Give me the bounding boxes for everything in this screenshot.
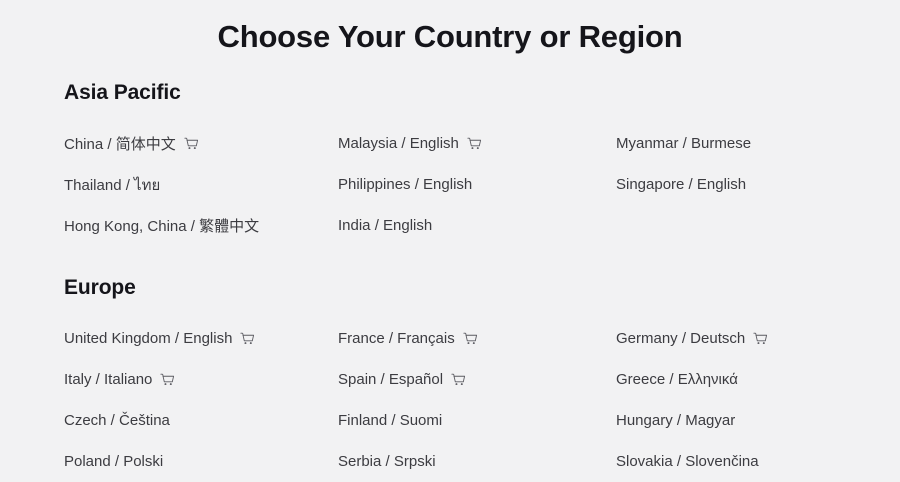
- region-link[interactable]: Greece / Ελληνικά: [616, 371, 738, 388]
- region-link-label: Singapore / English: [616, 176, 746, 193]
- region-link-label: Czech / Čeština: [64, 412, 170, 429]
- region-link-label: Hungary / Magyar: [616, 412, 735, 429]
- region-link-label: Spain / Español: [338, 371, 443, 388]
- region-link[interactable]: Philippines / English: [338, 176, 472, 193]
- region-cell: China / 简体中文: [64, 123, 338, 164]
- region-cell: Germany / Deutsch: [616, 318, 880, 359]
- region-link[interactable]: Serbia / Srpski: [338, 453, 436, 470]
- shopping-cart-icon[interactable]: [183, 136, 200, 153]
- region-link-label: Greece / Ελληνικά: [616, 371, 738, 388]
- region-link[interactable]: Hong Kong, China / 繁體中文: [64, 215, 259, 236]
- page-title: Choose Your Country or Region: [0, 0, 900, 55]
- region-link[interactable]: Hungary / Magyar: [616, 412, 735, 429]
- region-cell: Myanmar / Burmese: [616, 123, 880, 164]
- region-link[interactable]: Slovakia / Slovenčina: [616, 453, 759, 470]
- region-cell: Italy / Italiano: [64, 359, 338, 400]
- region-link[interactable]: United Kingdom / English: [64, 330, 256, 347]
- region-link-label: Slovakia / Slovenčina: [616, 453, 759, 470]
- region-cell: Poland / Polski: [64, 441, 338, 482]
- region-link-label: Finland / Suomi: [338, 412, 442, 429]
- region-link[interactable]: Italy / Italiano: [64, 371, 176, 388]
- region-cell: Finland / Suomi: [338, 400, 616, 441]
- region-link[interactable]: Malaysia / English: [338, 135, 483, 152]
- region-link-label: Italy / Italiano: [64, 371, 152, 388]
- section-europe: Europe United Kingdom / EnglishFrance / …: [0, 276, 900, 482]
- region-link-label: Myanmar / Burmese: [616, 135, 751, 152]
- region-link[interactable]: Spain / Español: [338, 371, 467, 388]
- region-cell: Spain / Español: [338, 359, 616, 400]
- region-cell: India / English: [338, 205, 616, 246]
- region-cell: Hungary / Magyar: [616, 400, 880, 441]
- region-grid-asia-pacific: China / 简体中文Malaysia / EnglishMyanmar / …: [64, 123, 880, 246]
- region-link-label: Serbia / Srpski: [338, 453, 436, 470]
- region-link-label: United Kingdom / English: [64, 330, 232, 347]
- region-link-label: Germany / Deutsch: [616, 330, 745, 347]
- section-heading-europe: Europe: [64, 276, 880, 300]
- region-link-label: Malaysia / English: [338, 135, 459, 152]
- region-cell: Slovakia / Slovenčina: [616, 441, 880, 482]
- region-link[interactable]: Poland / Polski: [64, 453, 163, 470]
- region-cell: United Kingdom / English: [64, 318, 338, 359]
- region-link[interactable]: France / Français: [338, 330, 479, 347]
- region-grid-europe: United Kingdom / EnglishFrance / Françai…: [64, 318, 880, 482]
- shopping-cart-icon[interactable]: [450, 372, 467, 389]
- shopping-cart-icon[interactable]: [239, 331, 256, 348]
- country-region-selector-page: Choose Your Country or Region Asia Pacif…: [0, 0, 900, 475]
- shopping-cart-icon[interactable]: [752, 331, 769, 348]
- region-link[interactable]: India / English: [338, 217, 432, 234]
- region-cell: Greece / Ελληνικά: [616, 359, 880, 400]
- region-cell: France / Français: [338, 318, 616, 359]
- shopping-cart-icon[interactable]: [462, 331, 479, 348]
- region-link[interactable]: Singapore / English: [616, 176, 746, 193]
- shopping-cart-icon[interactable]: [159, 372, 176, 389]
- region-cell: Singapore / English: [616, 164, 880, 205]
- section-asia-pacific: Asia Pacific China / 简体中文Malaysia / Engl…: [0, 81, 900, 246]
- region-cell: Serbia / Srpski: [338, 441, 616, 482]
- region-cell-empty: [616, 205, 880, 246]
- region-cell: Hong Kong, China / 繁體中文: [64, 205, 338, 246]
- region-cell: Philippines / English: [338, 164, 616, 205]
- region-link[interactable]: Thailand / ไทย: [64, 173, 160, 197]
- region-link-label: China / 简体中文: [64, 133, 176, 154]
- region-cell: Czech / Čeština: [64, 400, 338, 441]
- region-link[interactable]: Germany / Deutsch: [616, 330, 769, 347]
- region-link-label: India / English: [338, 217, 432, 234]
- region-link-label: Poland / Polski: [64, 453, 163, 470]
- region-cell: Thailand / ไทย: [64, 164, 338, 205]
- section-heading-asia-pacific: Asia Pacific: [64, 81, 880, 105]
- region-link[interactable]: China / 简体中文: [64, 133, 200, 154]
- region-link[interactable]: Finland / Suomi: [338, 412, 442, 429]
- region-link-label: Thailand / ไทย: [64, 173, 160, 197]
- region-link[interactable]: Myanmar / Burmese: [616, 135, 751, 152]
- region-link[interactable]: Czech / Čeština: [64, 412, 170, 429]
- shopping-cart-icon[interactable]: [466, 136, 483, 153]
- region-link-label: France / Français: [338, 330, 455, 347]
- region-link-label: Hong Kong, China / 繁體中文: [64, 215, 259, 236]
- region-link-label: Philippines / English: [338, 176, 472, 193]
- region-cell: Malaysia / English: [338, 123, 616, 164]
